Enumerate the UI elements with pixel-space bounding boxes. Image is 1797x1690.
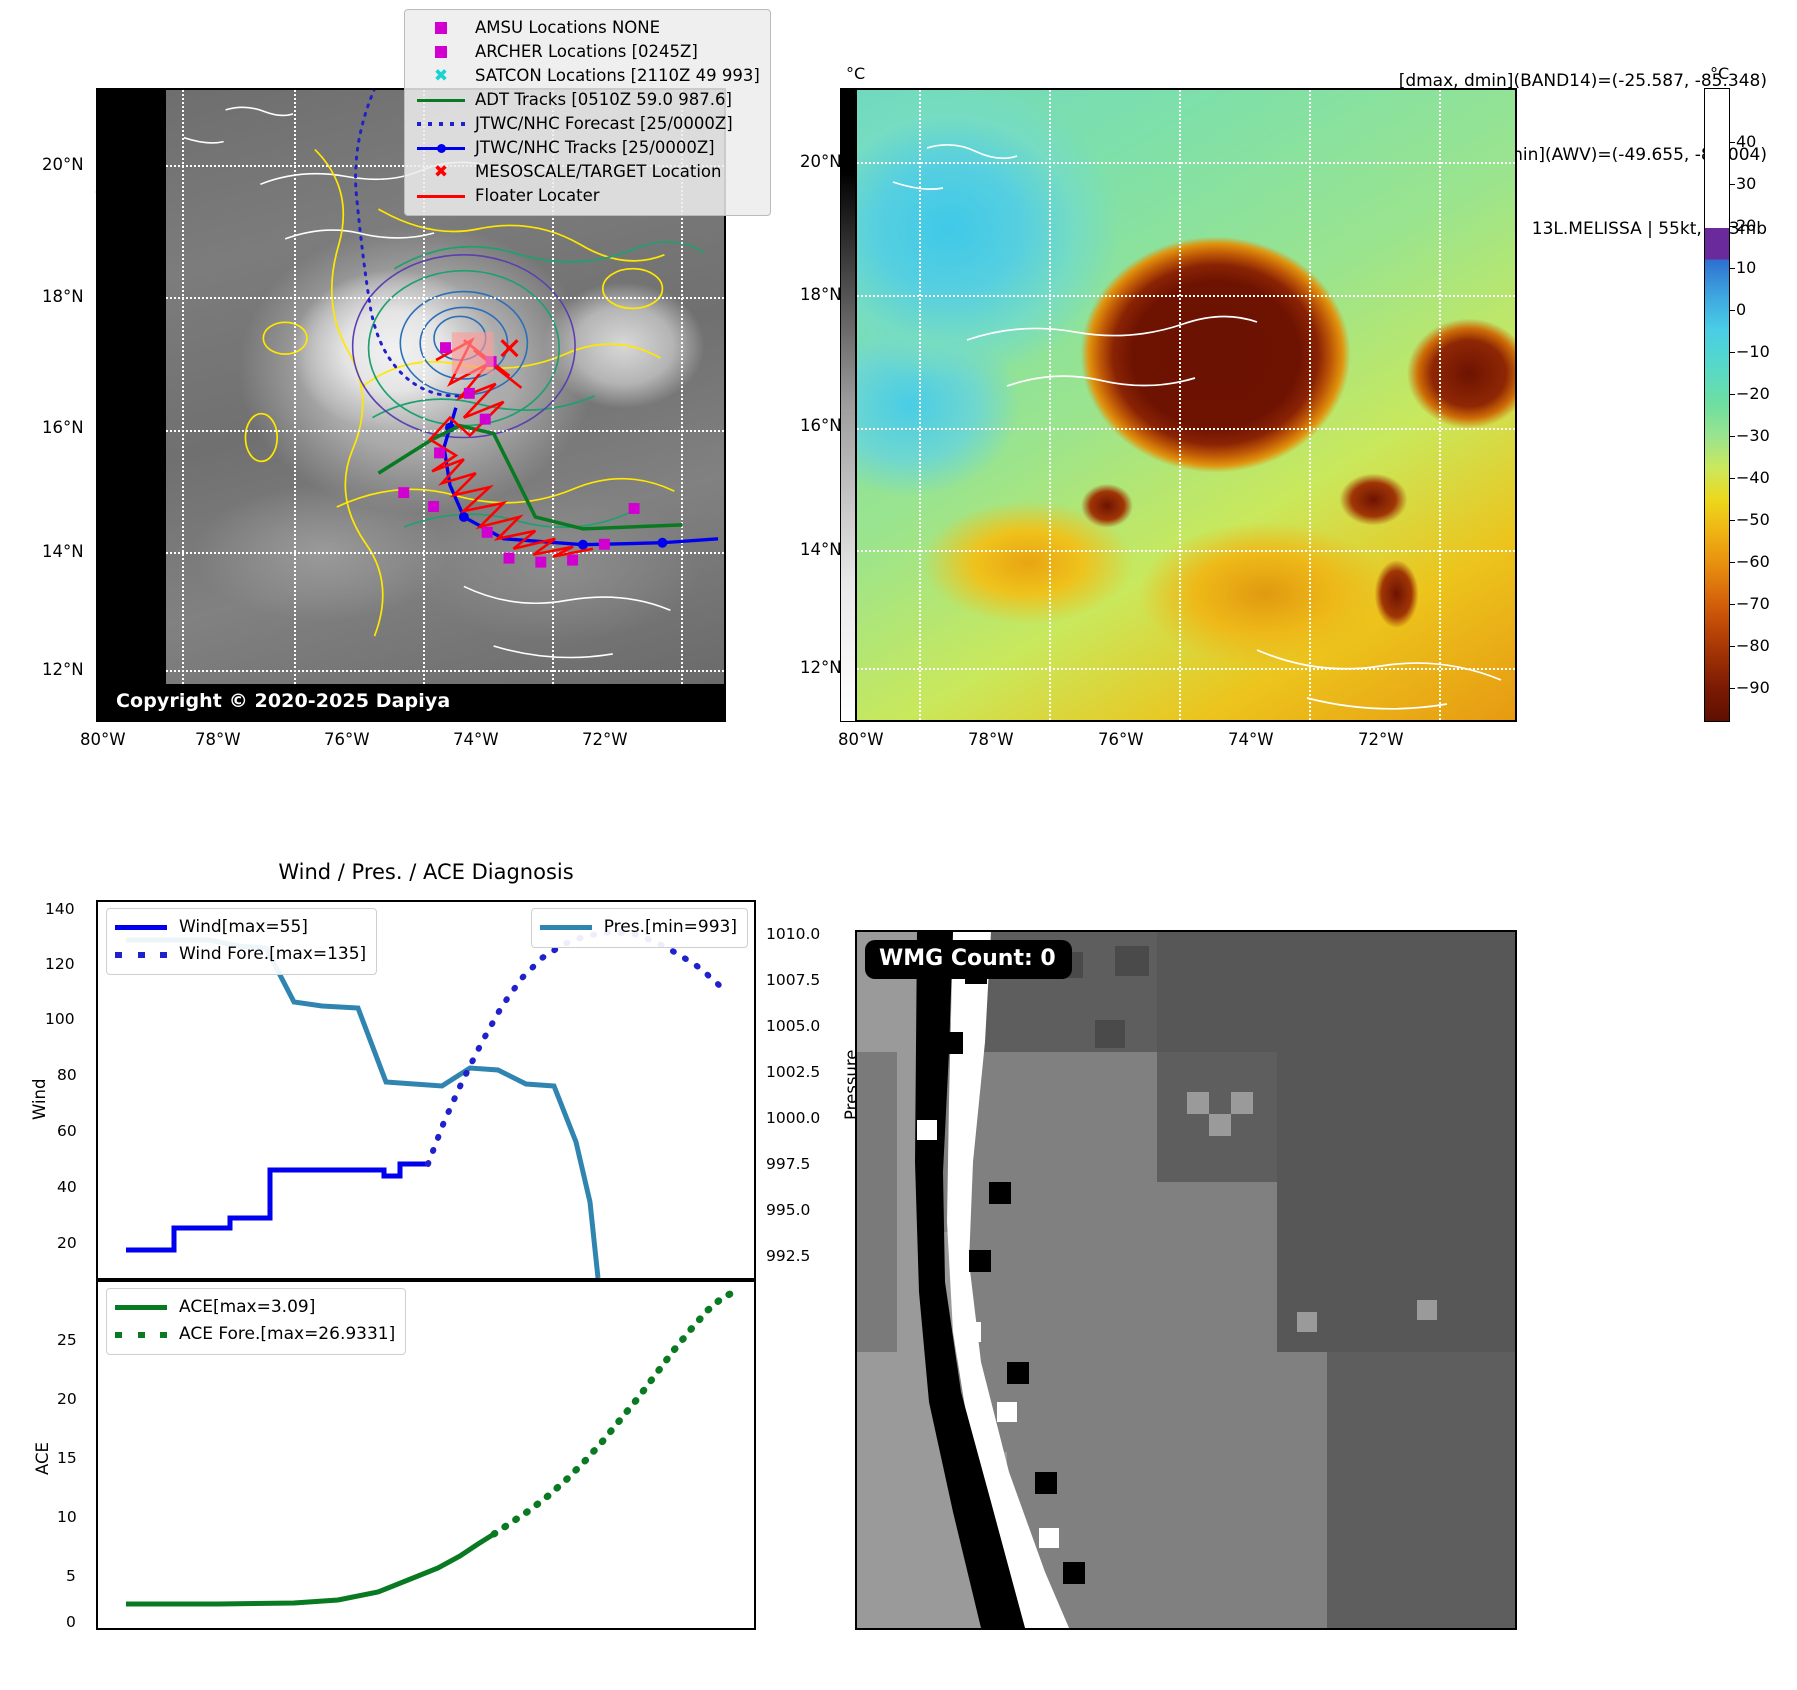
- map-right-lon-76w: 76°W: [1098, 730, 1144, 749]
- ace-tick-5: 5: [66, 1567, 76, 1585]
- legend-label: MESOSCALE/TARGET Location: [475, 164, 721, 181]
- map-right-lat-20n: 20°N: [800, 152, 842, 171]
- cb-r-tick-3: 10: [1736, 258, 1756, 277]
- legend-label: JTWC/NHC Forecast [25/0000Z]: [475, 116, 733, 133]
- legend-item-floater: Floater Locater: [415, 184, 760, 208]
- ace-forecast-series: [494, 1292, 734, 1534]
- blue-line-dot-icon: [415, 146, 467, 150]
- legend-item-tracks: JTWC/NHC Tracks [25/0000Z]: [415, 136, 760, 160]
- ace-tick-20: 20: [57, 1390, 77, 1408]
- map-right-lat-14n: 14°N: [800, 540, 842, 559]
- magenta-square-icon: [415, 46, 467, 58]
- green-solid-line-icon: [115, 1305, 171, 1310]
- awv-satellite-map[interactable]: [855, 88, 1517, 722]
- colorbar-right-ticks: 40 30 20 10 0 −10 −20 −30 −40 −50 −60 −7…: [1736, 88, 1796, 722]
- cyan-x-icon: ✖: [415, 68, 467, 85]
- legend-item-archer: ARCHER Locations [0245Z]: [415, 40, 760, 64]
- ace-tick-15: 15: [57, 1449, 77, 1467]
- ace-legend-label: ACE[max=3.09]: [179, 1299, 315, 1316]
- map-legend: AMSU Locations NONE ARCHER Locations [02…: [404, 9, 771, 216]
- wmg-panel[interactable]: WMG Count: 0: [855, 930, 1517, 1630]
- wmg-raster: [857, 932, 1515, 1628]
- map-right-lon-74w: 74°W: [1228, 730, 1274, 749]
- legend-item-mesoscale: ✖ MESOSCALE/TARGET Location: [415, 160, 760, 184]
- cb-r-tick-12: −80: [1736, 636, 1770, 655]
- legend-label: SATCON Locations [2110Z 49 993]: [475, 68, 760, 85]
- blue-dotted-line-icon: [115, 952, 171, 958]
- map-right-lat-12n: 12°N: [800, 658, 842, 677]
- ace-legend: ACE[max=3.09] ACE Fore.[max=26.9331]: [106, 1288, 406, 1355]
- map-left-lat-16n: 16°N: [42, 418, 84, 437]
- ace-tick-25: 25: [57, 1331, 77, 1349]
- green-line-icon: [415, 99, 467, 102]
- pres-tick-1002: 1002.5: [766, 1063, 820, 1081]
- blue-solid-line-icon: [115, 925, 171, 930]
- cb-r-tick-5: −10: [1736, 342, 1770, 361]
- magenta-square-icon: [415, 22, 467, 34]
- map-right-lat-16n: 16°N: [800, 416, 842, 435]
- cb-r-tick-13: −90: [1736, 678, 1770, 697]
- colorbar-right: [1704, 88, 1730, 722]
- cb-r-tick-9: −50: [1736, 510, 1770, 529]
- pres-tick-1000: 1000.0: [766, 1109, 820, 1127]
- pressure-legend-label: Pres.[min=993]: [604, 919, 737, 936]
- legend-item-satcon: ✖ SATCON Locations [2110Z 49 993]: [415, 64, 760, 88]
- wind-axis-label: Wind: [30, 1079, 49, 1120]
- map-left-lon-80w: 80°W: [80, 730, 126, 749]
- pressure-legend: Pres.[min=993]: [531, 908, 748, 948]
- legend-item-forecast: JTWC/NHC Forecast [25/0000Z]: [415, 112, 760, 136]
- wind-tick-100: 100: [45, 1010, 75, 1028]
- mesoscale-target-marker: [502, 340, 518, 356]
- map-left-lat-12n: 12°N: [42, 660, 84, 679]
- legend-label: JTWC/NHC Tracks [25/0000Z]: [475, 140, 715, 157]
- legend-label: ADT Tracks [0510Z 59.0 987.6]: [475, 92, 732, 109]
- target-box: [452, 332, 494, 374]
- cb-r-tick-10: −60: [1736, 552, 1770, 571]
- map-left-lon-78w: 78°W: [195, 730, 241, 749]
- map-right-lon-72w: 72°W: [1358, 730, 1404, 749]
- pres-tick-1005: 1005.0: [766, 1017, 820, 1035]
- wind-legend: Wind[max=55] Wind Fore.[max=135]: [106, 908, 377, 975]
- colorbar-left-title: °C: [846, 64, 865, 83]
- legend-label: ARCHER Locations [0245Z]: [475, 44, 698, 61]
- copyright-notice: Copyright © 2020-2025 Dapiya: [98, 684, 464, 720]
- diagnosis-title: Wind / Pres. / ACE Diagnosis: [278, 860, 573, 884]
- wind-legend-item-observed: Wind[max=55]: [115, 914, 366, 941]
- wind-tick-60: 60: [57, 1122, 77, 1140]
- cb-r-tick-8: −40: [1736, 468, 1770, 487]
- red-line-icon: [415, 195, 467, 198]
- cb-r-tick-2: 20: [1736, 216, 1756, 235]
- map-left-lon-74w: 74°W: [453, 730, 499, 749]
- map-right-lat-18n: 18°N: [800, 285, 842, 304]
- legend-item-amsu: AMSU Locations NONE: [415, 16, 760, 40]
- blue-dotted-line-icon: [415, 122, 467, 126]
- green-dotted-line-icon: [115, 1332, 171, 1338]
- wind-legend-item-forecast: Wind Fore.[max=135]: [115, 941, 366, 968]
- map-right-lon-78w: 78°W: [968, 730, 1014, 749]
- wind-tick-40: 40: [57, 1178, 77, 1196]
- wind-tick-20: 20: [57, 1234, 77, 1252]
- map-left-lon-72w: 72°W: [582, 730, 628, 749]
- wmg-count-badge: WMG Count: 0: [865, 940, 1072, 979]
- ace-legend-label: ACE Fore.[max=26.9331]: [179, 1326, 395, 1343]
- awv-imagery: [857, 90, 1515, 720]
- wind-forecast-series: [428, 932, 720, 1164]
- wind-tick-140: 140: [45, 900, 75, 918]
- wind-tick-80: 80: [57, 1066, 77, 1084]
- map-left-lat-18n: 18°N: [42, 287, 84, 306]
- steel-solid-line-icon: [540, 925, 596, 930]
- legend-label: AMSU Locations NONE: [475, 20, 660, 37]
- ace-tick-10: 10: [57, 1508, 77, 1526]
- cb-r-tick-11: −70: [1736, 594, 1770, 613]
- red-x-icon: ✖: [415, 164, 467, 181]
- ace-tick-0: 0: [66, 1613, 76, 1631]
- wind-legend-label: Wind[max=55]: [179, 919, 308, 936]
- cb-r-tick-6: −20: [1736, 384, 1770, 403]
- legend-item-adt: ADT Tracks [0510Z 59.0 987.6]: [415, 88, 760, 112]
- pres-tick-1010: 1010.0: [766, 925, 820, 943]
- pres-tick-992: 992.5: [766, 1247, 810, 1265]
- map-right-lon-80w: 80°W: [838, 730, 884, 749]
- wind-pressure-chart[interactable]: Wind[max=55] Wind Fore.[max=135] Pres.[m…: [96, 900, 756, 1280]
- cb-r-tick-7: −30: [1736, 426, 1770, 445]
- pressure-legend-item: Pres.[min=993]: [540, 914, 737, 941]
- colorbar-right-title: °C: [1710, 64, 1729, 83]
- ace-legend-item-forecast: ACE Fore.[max=26.9331]: [115, 1321, 395, 1348]
- wind-legend-label: Wind Fore.[max=135]: [179, 946, 366, 963]
- cb-r-tick-0: 40: [1736, 132, 1756, 151]
- map-left-lat-14n: 14°N: [42, 542, 84, 561]
- coastline-overlay-right: [857, 90, 1515, 720]
- pres-tick-997: 997.5: [766, 1155, 810, 1173]
- ace-axis-label: ACE: [33, 1442, 52, 1475]
- wind-observed-series: [126, 1164, 428, 1250]
- legend-label: Floater Locater: [475, 188, 600, 205]
- ace-observed-series: [126, 1534, 494, 1604]
- pres-tick-995: 995.0: [766, 1201, 810, 1219]
- dashboard-root: GOES-19 BAND14-DIAS MESOSCALE Time: 2025…: [0, 0, 1797, 1690]
- cb-r-tick-1: 30: [1736, 174, 1756, 193]
- pres-tick-1007: 1007.5: [766, 971, 820, 989]
- ace-legend-item-observed: ACE[max=3.09]: [115, 1294, 395, 1321]
- wind-tick-120: 120: [45, 955, 75, 973]
- map-left-lon-76w: 76°W: [324, 730, 370, 749]
- cb-r-tick-4: 0: [1736, 300, 1746, 319]
- ace-chart[interactable]: ACE[max=3.09] ACE Fore.[max=26.9331]: [96, 1280, 756, 1630]
- map-left-lat-20n: 20°N: [42, 155, 84, 174]
